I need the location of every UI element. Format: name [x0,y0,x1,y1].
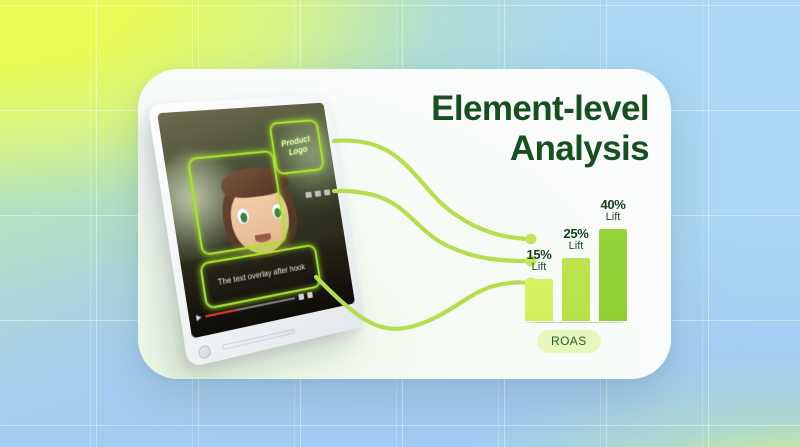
bar-sublabel-1: Lift [526,261,551,275]
bar-group-1[interactable]: 15% Lift [525,248,553,321]
roas-axis-label: ROAS [537,330,601,353]
roas-bar-chart: 15% Lift 25% Lift 40% Lift [511,187,641,359]
connector-path-face [334,191,529,261]
bar-value-1: 15% [526,248,551,261]
bar-value-2: 25% [563,227,588,240]
bar-label-3: 40% Lift [600,198,625,225]
connector-path-logo [334,141,529,239]
chart-bars: 15% Lift 25% Lift 40% Lift [523,211,629,321]
bar-sublabel-2: Lift [563,240,588,254]
bar-sublabel-3: Lift [600,211,625,225]
bar-rect-3[interactable] [599,229,627,321]
content-card: Element-level Analysis [138,69,671,379]
bar-value-3: 40% [600,198,625,211]
bar-group-2[interactable]: 25% Lift [562,227,590,321]
bar-rect-2[interactable] [562,258,590,321]
bar-label-1: 15% Lift [526,248,551,275]
bar-label-2: 25% Lift [563,227,588,254]
bar-group-3[interactable]: 40% Lift [599,198,627,321]
chart-baseline [519,322,631,323]
bar-rect-1[interactable] [525,279,553,321]
connector-path-caption [316,277,529,329]
